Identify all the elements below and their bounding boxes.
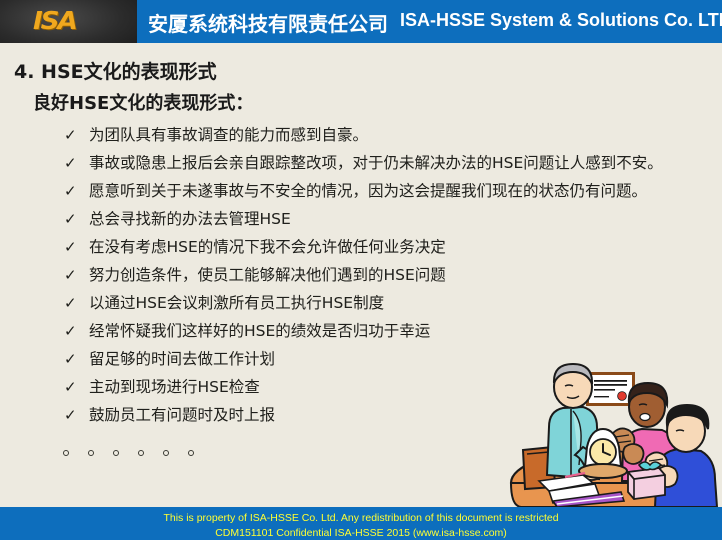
checkmark-icon: ✓ bbox=[64, 402, 77, 429]
bullet-text: 愿意听到关于未遂事故与不安全的情况，因为这会提醒我们现在的状态仍有问题。 bbox=[89, 178, 687, 205]
slide-canvas: ISA 安厦系统科技有限责任公司 ISA-HSSE System & Solut… bbox=[0, 0, 722, 540]
checkmark-icon: ✓ bbox=[64, 122, 77, 149]
footer-document-line: CDM151101 Confidential ISA-HSSE 2015 (ww… bbox=[0, 524, 722, 539]
circle-marker bbox=[163, 450, 169, 456]
bullet-text: 为团队具有事故调查的能力而感到自豪。 bbox=[89, 122, 489, 149]
bullet-item: ✓经常怀疑我们这样好的HSE的绩效是否归功于幸运 bbox=[62, 318, 687, 345]
checkmark-icon: ✓ bbox=[64, 234, 77, 261]
checkmark-icon: ✓ bbox=[64, 150, 77, 177]
checkmark-icon: ✓ bbox=[64, 206, 77, 233]
company-name-english: ISA-HSSE System & Solutions Co. LTD bbox=[400, 10, 722, 31]
bullet-text: 事故或隐患上报后会亲自跟踪整改项，对于仍未解决办法的HSE问题让人感到不安。 bbox=[89, 150, 687, 177]
bullet-text: 经常怀疑我们这样好的HSE的绩效是否归功于幸运 bbox=[89, 318, 489, 345]
bullet-text: 留足够的时间去做工作计划 bbox=[89, 346, 489, 373]
bullet-text: 总会寻找新的办法去管理HSE bbox=[89, 206, 489, 233]
footer-copyright-line: This is property of ISA-HSSE Co. Ltd. An… bbox=[0, 507, 722, 524]
circle-marker bbox=[113, 450, 119, 456]
bullet-item: ✓愿意听到关于未遂事故与不安全的情况，因为这会提醒我们现在的状态仍有问题。 bbox=[62, 178, 687, 205]
checkmark-icon: ✓ bbox=[64, 346, 77, 373]
isa-logo: ISA bbox=[33, 6, 76, 35]
circle-marker bbox=[138, 450, 144, 456]
checkmark-icon: ✓ bbox=[64, 374, 77, 401]
company-name-chinese: 安厦系统科技有限责任公司 bbox=[148, 8, 388, 37]
circle-marker bbox=[188, 450, 194, 456]
logo-panel: ISA bbox=[0, 0, 137, 43]
checkmark-icon: ✓ bbox=[64, 262, 77, 289]
header-bar: ISA 安厦系统科技有限责任公司 ISA-HSSE System & Solut… bbox=[0, 0, 722, 43]
page-title: 4. HSE文化的表现形式 bbox=[14, 57, 217, 84]
bullet-item: ✓以通过HSE会议刺激所有员工执行HSE制度 bbox=[62, 290, 687, 317]
bullet-item: ✓努力创造条件，使员工能够解决他们遇到的HSE问题 bbox=[62, 262, 687, 289]
circle-marker bbox=[63, 450, 69, 456]
trailing-circle-markers bbox=[63, 450, 194, 456]
bullet-text: 以通过HSE会议刺激所有员工执行HSE制度 bbox=[89, 290, 489, 317]
bullet-text: 努力创造条件，使员工能够解决他们遇到的HSE问题 bbox=[89, 262, 489, 289]
certificate-icon bbox=[586, 372, 635, 406]
bullet-text: 主动到现场进行HSE检查 bbox=[89, 374, 489, 401]
bullet-item: ✓为团队具有事故调查的能力而感到自豪。 bbox=[62, 122, 687, 149]
bullet-text: 鼓励员工有问题时及时上报 bbox=[89, 402, 489, 429]
checkmark-icon: ✓ bbox=[64, 318, 77, 345]
checkmark-icon: ✓ bbox=[64, 290, 77, 317]
footer-bar: This is property of ISA-HSSE Co. Ltd. An… bbox=[0, 507, 722, 540]
page-subtitle: 良好HSE文化的表现形式： bbox=[33, 89, 253, 115]
circle-marker bbox=[88, 450, 94, 456]
award-ceremony-illustration bbox=[487, 355, 722, 507]
bullet-item: ✓总会寻找新的办法去管理HSE bbox=[62, 206, 687, 233]
bullet-item: ✓在没有考虑HSE的情况下我不会允许做任何业务决定 bbox=[62, 234, 687, 261]
bullet-item: ✓事故或隐患上报后会亲自跟踪整改项，对于仍未解决办法的HSE问题让人感到不安。 bbox=[62, 150, 687, 177]
checkmark-icon: ✓ bbox=[64, 178, 77, 205]
bullet-text: 在没有考虑HSE的情况下我不会允许做任何业务决定 bbox=[89, 234, 489, 261]
